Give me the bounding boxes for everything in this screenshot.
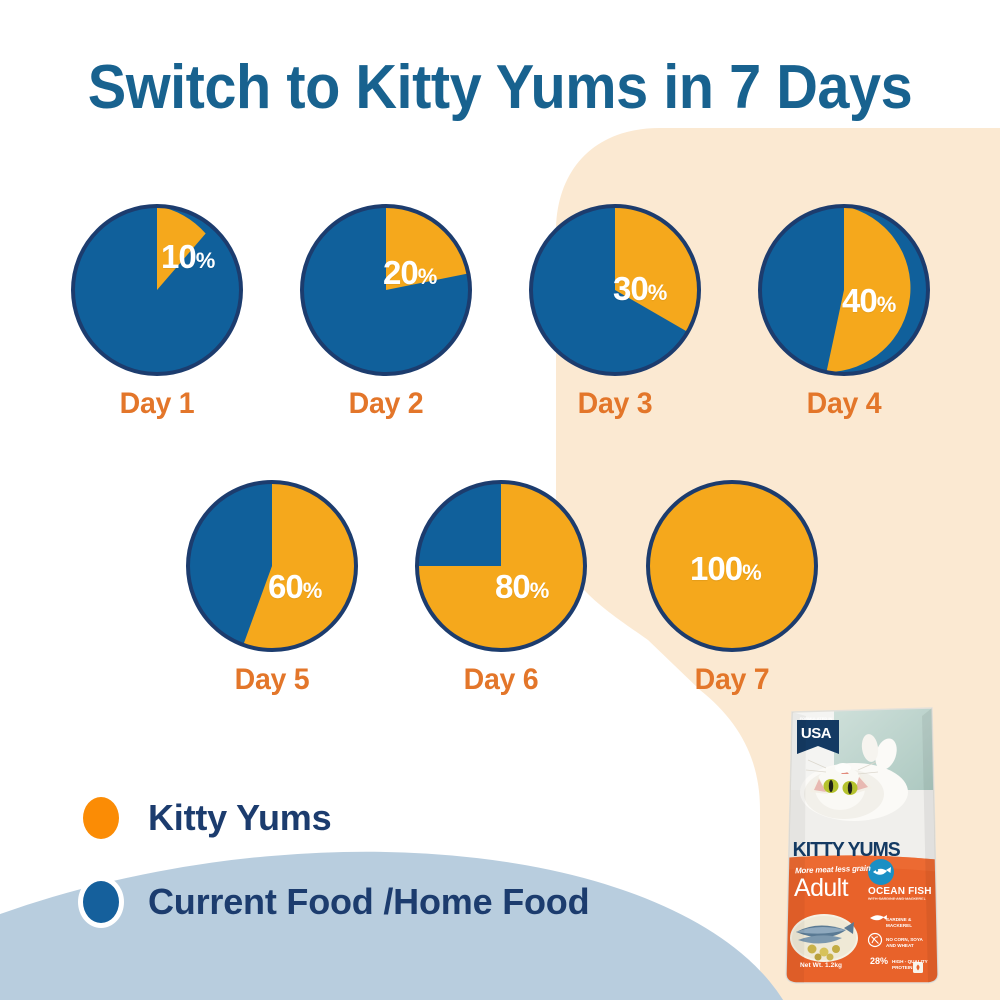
pie-chart-day-5: 60% — [184, 478, 360, 654]
legend-label-kitty-yums: Kitty Yums — [148, 800, 331, 836]
product-life-stage: Adult — [794, 876, 848, 901]
pie-value-label-day-4: 40% — [842, 284, 896, 317]
pie-cell-day-4: 40% Day 4 — [749, 202, 939, 419]
product-origin-badge: USA — [798, 726, 834, 741]
pie-day-label-day-1: Day 1 — [67, 389, 248, 419]
legend-dot-current-food-icon — [78, 876, 124, 928]
pie-chart-day-3: 30% — [527, 202, 703, 378]
pie-day-label-day-4: Day 4 — [754, 389, 935, 419]
legend-item-kitty-yums[interactable]: Kitty Yums — [78, 786, 698, 850]
product-brand-name: KITTY YUMS — [793, 840, 900, 860]
product-origin-sub: FORMULATED IN — [792, 717, 840, 721]
pie-cell-day-3: 30% Day 3 — [520, 202, 710, 419]
legend-label-current-food: Current Food /Home Food — [148, 884, 589, 920]
pie-value-label-day-7: 100% — [690, 552, 761, 585]
pie-value-label-day-2: 20% — [383, 256, 437, 289]
product-protein-percent: 28% — [870, 956, 888, 966]
pie-day-label-day-6: Day 6 — [411, 665, 592, 695]
pie-value-label-day-5: 60% — [268, 570, 322, 603]
product-net-weight: Net Wt. 1.2kg — [800, 963, 842, 970]
pie-day-label-day-2: Day 2 — [296, 389, 477, 419]
pie-chart-day-2: 20% — [298, 202, 474, 378]
product-flavour: OCEAN FISH — [868, 887, 932, 897]
pie-cell-day-2: 20% Day 2 — [291, 202, 481, 419]
pie-day-label-day-7: Day 7 — [642, 665, 823, 695]
pie-day-label-day-3: Day 3 — [525, 389, 706, 419]
product-pack-image[interactable]: FORMULATED IN USA KITTY YUMS More meat l… — [782, 706, 942, 986]
pie-chart-day-6: 80% — [413, 478, 589, 654]
product-bullet-protein: HIGH - QUALITY PROTEIN — [892, 959, 928, 970]
pie-chart-day-1: 10% — [69, 202, 245, 378]
pie-value-label-day-3: 30% — [613, 272, 667, 305]
infographic-canvas: Switch to Kitty Yums in 7 Days 10% Day 1… — [0, 0, 1000, 1000]
pie-cell-day-1: 10% Day 1 — [62, 202, 252, 419]
page-title: Switch to Kitty Yums in 7 Days — [35, 52, 965, 124]
legend-item-current-food[interactable]: Current Food /Home Food — [78, 870, 698, 934]
legend-dot-kitty-yums-icon — [78, 792, 124, 844]
pie-value-label-day-6: 80% — [495, 570, 549, 603]
pie-chart-day-7: 100% — [644, 478, 820, 654]
pie-cell-day-7: 100% Day 7 — [637, 478, 827, 695]
pie-cell-day-5: 60% Day 5 — [177, 478, 367, 695]
pie-value-label-day-1: 10% — [161, 240, 215, 273]
product-bullet-sardine: SARDINE & MACKEREL — [886, 917, 912, 928]
pie-day-label-day-5: Day 5 — [182, 665, 363, 695]
chart-legend: Kitty Yums Current Food /Home Food — [78, 786, 698, 954]
product-flavour-sub: WITH SARDINE AND MACKEREL — [868, 898, 926, 902]
pie-chart-day-4: 40% — [756, 202, 932, 378]
pie-cell-day-6: 80% Day 6 — [406, 478, 596, 695]
product-bullet-no-corn: NO CORN, SOYA AND WHEAT — [886, 937, 923, 948]
